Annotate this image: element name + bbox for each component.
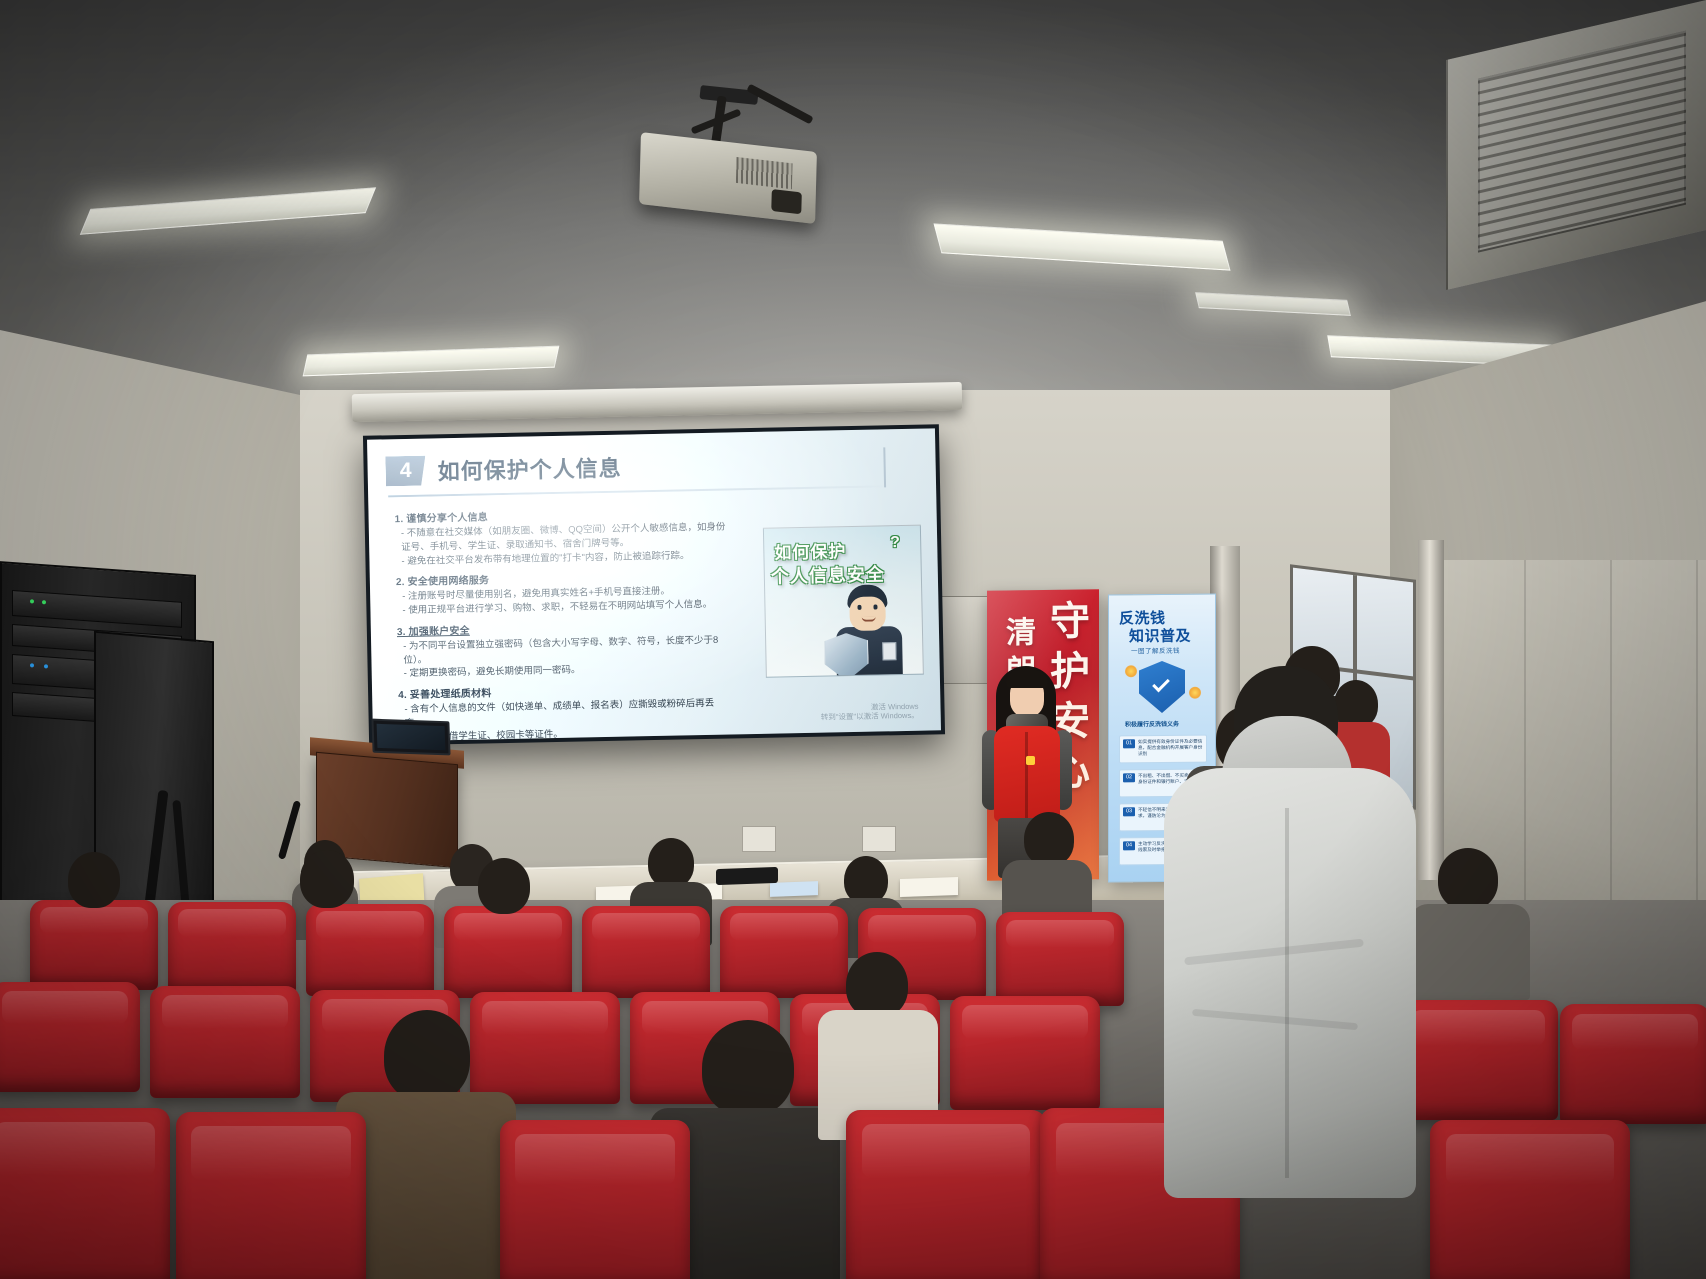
audience-person <box>286 850 370 928</box>
auditorium-chair <box>950 996 1100 1110</box>
person-head <box>702 1020 794 1116</box>
watermark-line2: 转到"设置"以激活 Windows。 <box>821 711 919 723</box>
audience-person <box>464 858 544 934</box>
projector-vent <box>736 157 793 189</box>
standing-person-white-coat <box>1130 648 1430 1279</box>
wall-outlet <box>862 826 896 852</box>
slide-title-edge <box>883 447 886 487</box>
audience-person <box>818 952 938 1132</box>
person-head <box>1438 848 1498 910</box>
audience-person <box>1002 812 1092 920</box>
wall-outlet <box>742 826 776 852</box>
volunteer-pin-icon <box>1026 756 1035 765</box>
auditorium-chair <box>0 982 140 1092</box>
status-led <box>30 599 34 603</box>
person-head <box>648 838 694 888</box>
character-face <box>849 596 886 631</box>
windows-activation-watermark: 激活 Windows 转到"设置"以激活 Windows。 <box>821 701 919 722</box>
presenter-fringe <box>1006 670 1048 688</box>
slide-header: 4 如何保护个人信息 <box>385 451 622 488</box>
auditorium-chair <box>1430 1120 1630 1279</box>
status-led <box>44 664 48 668</box>
illustration-title-line1: 如何保护 <box>774 537 846 563</box>
status-led <box>30 663 34 667</box>
person-head <box>844 856 888 904</box>
slide-body: 1. 谨慎分享个人信息 - 不随意在社交媒体（如朋友圈、微博、QQ空间）公开个人… <box>388 498 733 741</box>
auditorium-chair <box>846 1110 1046 1279</box>
auditorium-chair <box>500 1120 690 1279</box>
monitor-screen <box>377 724 446 750</box>
auditorium-chair <box>582 906 710 998</box>
auditorium-chair <box>996 912 1124 1006</box>
auditorium-chair <box>168 902 296 994</box>
auditorium-chair <box>176 1112 366 1279</box>
slide-number-badge: 4 <box>385 456 426 487</box>
person-head <box>300 850 354 908</box>
character-eye <box>857 605 861 610</box>
person-head <box>68 852 120 908</box>
slide-title: 如何保护个人信息 <box>437 451 622 487</box>
audience-person <box>52 852 136 928</box>
white-winter-coat <box>1164 768 1416 1198</box>
auditorium-chair <box>0 1108 170 1279</box>
lecture-room-photo: 4 如何保护个人信息 1. 谨慎分享个人信息 - 不随意在社交媒体（如朋友圈、微… <box>0 0 1706 1279</box>
auditorium-chair <box>1560 1004 1706 1124</box>
person-head <box>1024 812 1074 866</box>
slide-content: 4 如何保护个人信息 1. 谨慎分享个人信息 - 不随意在社交媒体（如朋友圈、微… <box>367 428 941 741</box>
lectern-monitor <box>371 719 450 756</box>
illustration-character <box>825 584 919 678</box>
rack-unit <box>12 590 182 628</box>
projection-screen: 4 如何保护个人信息 1. 谨慎分享个人信息 - 不随意在社交媒体（如朋友圈、微… <box>363 424 945 745</box>
projector-lens <box>771 189 802 214</box>
auditorium-chair <box>150 986 300 1098</box>
person-head <box>478 858 530 914</box>
character-id-card <box>882 642 896 660</box>
person-head <box>384 1010 470 1102</box>
question-mark-icon: ? <box>890 534 900 552</box>
table-papers <box>900 877 958 897</box>
slide-illustration: 如何保护 ? 个人信息安全 <box>763 525 924 678</box>
table-microphone-base <box>716 867 778 885</box>
blue-banner-title-line2: 知识普及 <box>1129 625 1191 647</box>
ac-grille <box>1478 31 1686 253</box>
slide-title-underline <box>388 485 888 497</box>
presenter-red-vest <box>994 726 1060 822</box>
table-papers <box>770 881 818 897</box>
person-head <box>846 952 908 1018</box>
character-eye <box>873 605 877 610</box>
status-led <box>42 600 46 604</box>
